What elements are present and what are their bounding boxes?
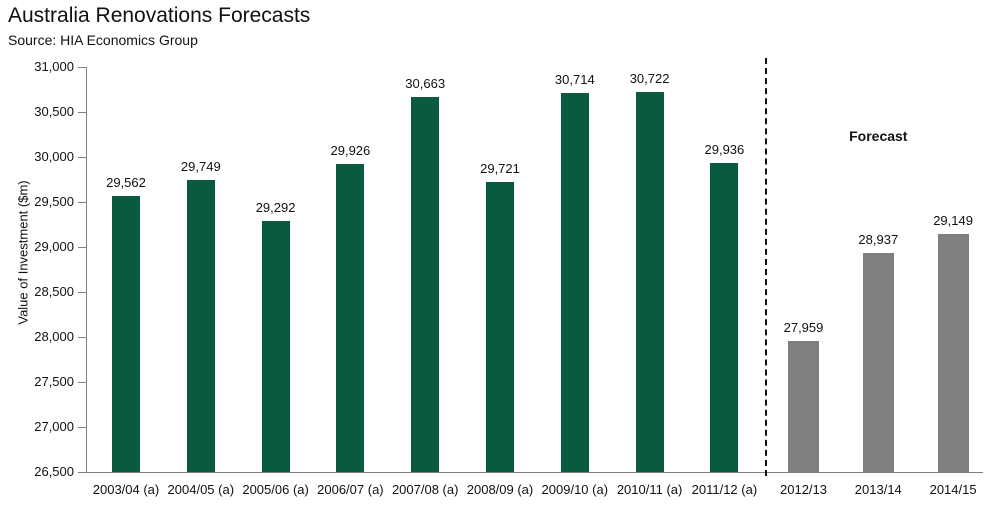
bar <box>411 97 439 472</box>
bar <box>561 93 589 472</box>
y-axis-tick-label: 30,500 <box>2 104 74 119</box>
y-axis-tick <box>78 337 86 338</box>
bar-value-label: 29,749 <box>161 159 241 174</box>
y-axis-line <box>86 67 87 473</box>
y-axis-tick <box>78 67 86 68</box>
x-axis-line <box>86 472 983 473</box>
y-axis-tick <box>78 382 86 383</box>
y-axis-tick-label: 31,000 <box>2 59 74 74</box>
y-axis-tick-label: 27,000 <box>2 419 74 434</box>
y-axis-tick-label: 27,500 <box>2 374 74 389</box>
x-axis-tick-label: 2014/15 <box>908 482 993 497</box>
bar-value-label: 29,926 <box>310 143 390 158</box>
bar-value-label: 28,937 <box>838 232 918 247</box>
bar <box>863 253 894 472</box>
bar-value-label: 30,722 <box>610 71 690 86</box>
bar-value-label: 29,292 <box>236 200 316 215</box>
bar <box>336 164 364 472</box>
y-axis-tick-label: 28,000 <box>2 329 74 344</box>
bar-value-label: 29,721 <box>460 161 540 176</box>
bar-value-label: 27,959 <box>764 320 844 335</box>
y-axis-tick-label: 26,500 <box>2 464 74 479</box>
bar <box>187 180 215 472</box>
bar <box>262 221 290 472</box>
y-axis-tick-label: 30,000 <box>2 149 74 164</box>
bar <box>636 92 664 472</box>
bar <box>710 163 738 472</box>
y-axis-tick <box>78 202 86 203</box>
y-axis-tick <box>78 157 86 158</box>
forecast-region-label: Forecast <box>818 128 938 144</box>
bar-value-label: 30,663 <box>385 76 465 91</box>
bar <box>788 341 819 472</box>
y-axis-tick <box>78 427 86 428</box>
y-axis-tick-label: 28,500 <box>2 284 74 299</box>
bar-value-label: 30,714 <box>535 72 615 87</box>
y-axis-tick <box>78 472 86 473</box>
bar-value-label: 29,562 <box>86 175 166 190</box>
y-axis-tick <box>78 247 86 248</box>
bar <box>486 182 514 472</box>
bar-value-label: 29,149 <box>913 213 993 228</box>
chart-root: Australia Renovations Forecasts Source: … <box>0 0 993 531</box>
y-axis-tick-label: 29,000 <box>2 239 74 254</box>
x-axis-tick-label: 2011/12 (a) <box>679 482 769 497</box>
bar <box>938 234 969 472</box>
plot-area: 31,00030,50030,00029,50029,00028,50028,0… <box>0 0 993 531</box>
bar <box>112 196 140 472</box>
bar-value-label: 29,936 <box>684 142 764 157</box>
forecast-divider <box>765 58 767 476</box>
y-axis-tick <box>78 112 86 113</box>
y-axis-tick-label: 29,500 <box>2 194 74 209</box>
y-axis-tick <box>78 292 86 293</box>
